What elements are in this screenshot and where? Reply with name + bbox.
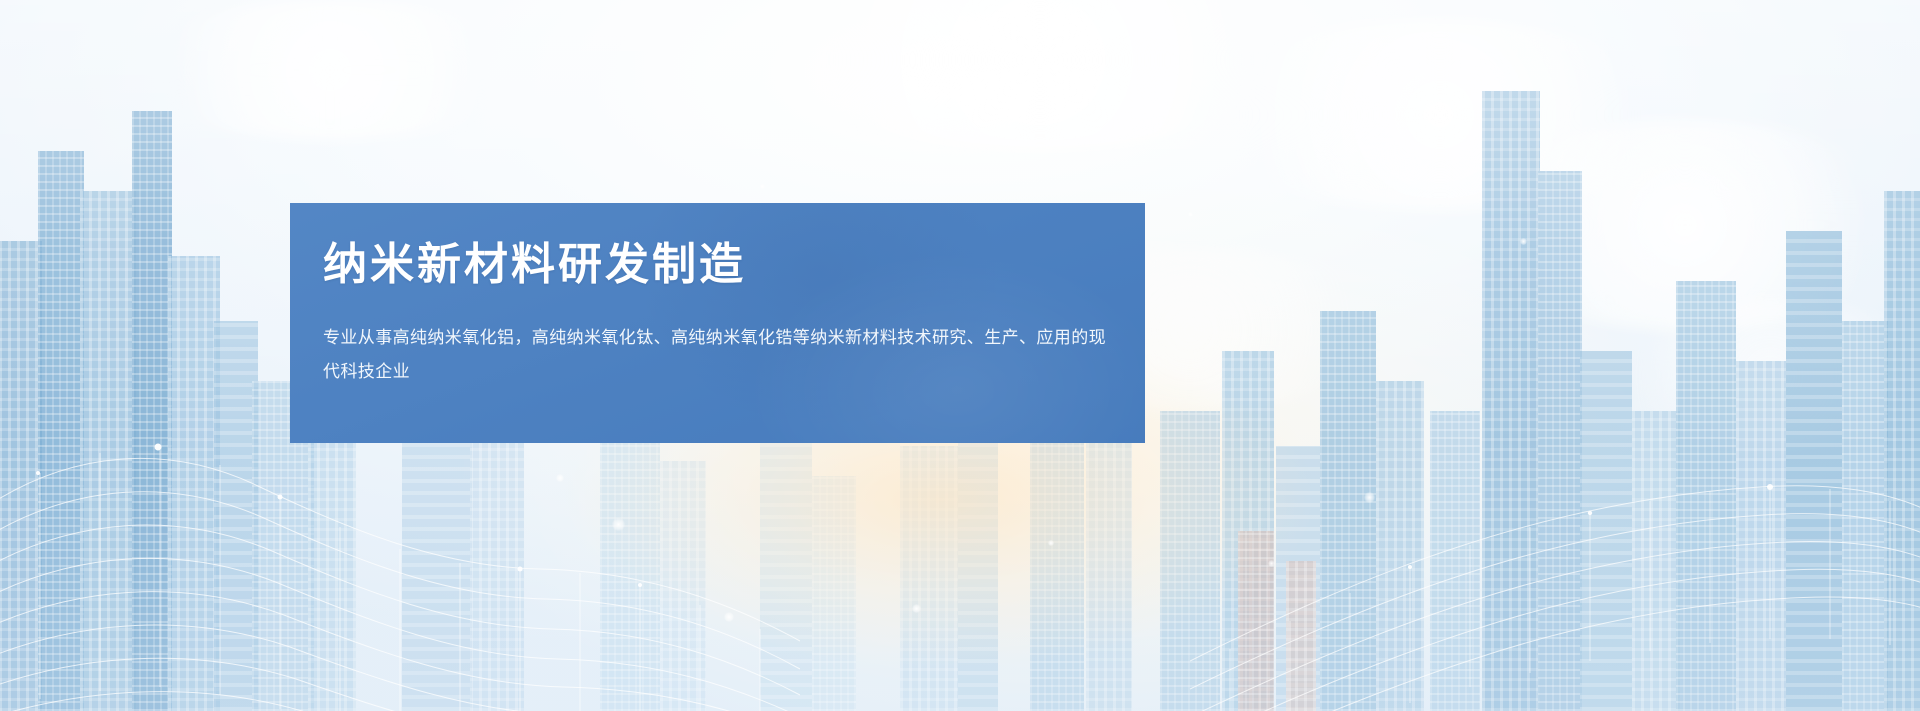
bokeh-dot (1520, 238, 1527, 245)
building (1676, 281, 1736, 711)
building (80, 191, 136, 711)
building (1842, 321, 1888, 711)
building (660, 461, 706, 711)
building (168, 256, 220, 711)
bokeh-dot (724, 612, 734, 622)
building (1580, 351, 1632, 711)
hero-text-panel: 纳米新材料研发制造 专业从事高纯纳米氧化铝，高纯纳米氧化钛、高纯纳米氧化锆等纳米… (290, 203, 1145, 443)
building (1884, 191, 1920, 711)
bokeh-dot (1268, 560, 1275, 567)
building (0, 241, 42, 711)
building (1482, 91, 1540, 711)
building (958, 411, 998, 711)
building (132, 111, 172, 711)
building (812, 476, 856, 711)
bokeh-dot (912, 604, 921, 613)
building (1430, 411, 1480, 711)
building (1538, 171, 1582, 711)
building (1632, 411, 1680, 711)
page-subtitle: 专业从事高纯纳米氧化铝，高纯纳米氧化钛、高纯纳米氧化锆等纳米新材料技术研究、生产… (323, 321, 1113, 389)
building (1320, 311, 1376, 711)
bokeh-dot (1048, 540, 1054, 546)
hero-banner: 纳米新材料研发制造 专业从事高纯纳米氧化铝，高纯纳米氧化钛、高纯纳米氧化锆等纳米… (0, 0, 1920, 711)
page-title: 纳米新材料研发制造 (323, 239, 746, 292)
bokeh-dot (1188, 212, 1193, 217)
building (600, 411, 660, 711)
building (1238, 531, 1274, 711)
building (38, 151, 84, 711)
bokeh-dot (612, 518, 625, 531)
bokeh-dot (760, 184, 765, 189)
building (900, 446, 958, 711)
building (1286, 561, 1316, 711)
building (1736, 361, 1786, 711)
bokeh-dot (556, 474, 564, 482)
building (1376, 381, 1424, 711)
bokeh-dot (1364, 492, 1375, 503)
building (1786, 231, 1842, 711)
building (308, 411, 356, 711)
building (760, 436, 812, 711)
building (1086, 421, 1132, 711)
building (1160, 411, 1220, 711)
